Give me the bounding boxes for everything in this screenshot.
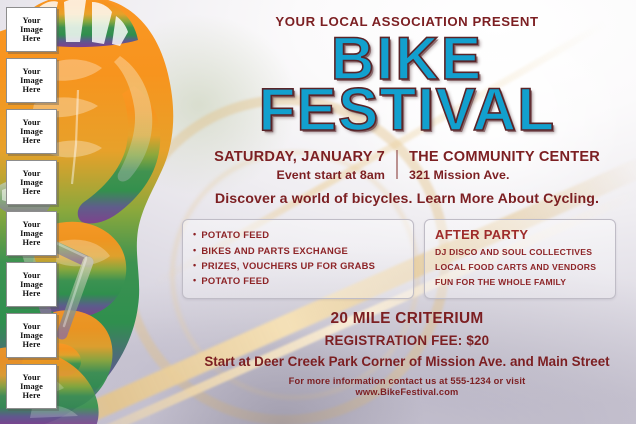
placeholder-line-1: Your [22,271,40,280]
placeholder-line-1: Your [22,373,40,382]
image-placeholder[interactable]: Your Image Here [6,313,57,358]
after-party-heading: AFTER PARTY [435,227,605,242]
placeholder-line-1: Your [22,16,40,25]
placeholder-line-3: Here [23,289,41,298]
poster-canvas: Your Image Here Your Image Here Your Ima… [0,0,636,424]
image-placeholder[interactable]: Your Image Here [6,211,57,256]
event-date: SATURDAY, JANUARY 7 [211,149,385,165]
highlight-item: • BIKES AND PARTS EXCHANGE [193,243,403,258]
bullet-dot-icon: • [193,227,196,242]
placeholder-line-2: Image [20,229,43,238]
placeholder-line-3: Here [23,34,41,43]
image-placeholder[interactable]: Your Image Here [6,364,57,409]
placeholder-line-2: Image [20,25,43,34]
image-placeholder[interactable]: Your Image Here [6,262,57,307]
placeholder-line-3: Here [23,238,41,247]
image-placeholder[interactable]: Your Image Here [6,109,57,154]
after-party-item: DJ DISCO AND SOUL COLLECTIVES [435,245,605,260]
event-tagline: Discover a world of bicycles. Learn More… [178,191,636,207]
placeholder-line-2: Image [20,178,43,187]
placeholder-line-2: Image [20,382,43,391]
after-party-panel: AFTER PARTY DJ DISCO AND SOUL COLLECTIVE… [424,219,616,298]
placeholder-line-2: Image [20,280,43,289]
placeholder-line-1: Your [22,322,40,331]
highlight-label: PRIZES, VOUCHERS UP FOR GRABS [201,258,375,273]
image-placeholder[interactable]: Your Image Here [6,160,57,205]
info-divider [396,150,398,179]
bullet-dot-icon: • [193,243,196,258]
highlight-label: BIKES AND PARTS EXCHANGE [201,243,348,258]
highlight-item: • POTATO FEED [193,273,403,288]
event-date-column: SATURDAY, JANUARY 7 Event start at 8am [200,149,396,182]
poster-content: YOUR LOCAL ASSOCIATION PRESENT BIKE FEST… [178,0,636,424]
placeholder-line-1: Your [22,118,40,127]
poster-footer: 20 MILE CRITERIUM REGISTRATION FEE: $20 … [178,310,636,397]
image-placeholder[interactable]: Your Image Here [6,7,57,52]
placeholder-line-3: Here [23,136,41,145]
criterium-title: 20 MILE CRITERIUM [178,310,636,328]
poster-title: BIKE FESTIVAL [178,31,636,137]
image-placeholder-strip: Your Image Here Your Image Here Your Ima… [0,0,64,424]
after-party-item: FUN FOR THE WHOLE FAMILY [435,275,605,290]
event-start-time: Event start at 8am [211,168,385,182]
event-info-row: SATURDAY, JANUARY 7 Event start at 8am T… [178,149,636,182]
placeholder-line-1: Your [22,67,40,76]
placeholder-line-2: Image [20,127,43,136]
venue-address: 321 Mission Ave. [409,168,603,182]
contact-line: For more information contact us at 555-1… [178,376,636,386]
website-line[interactable]: www.BikeFestival.com [178,387,636,397]
bullet-dot-icon: • [193,273,196,288]
highlight-label: POTATO FEED [201,227,269,242]
registration-fee: REGISTRATION FEE: $20 [178,333,636,348]
placeholder-line-3: Here [23,85,41,94]
info-panels: • POTATO FEED • BIKES AND PARTS EXCHANGE… [178,219,636,298]
venue-name: THE COMMUNITY CENTER [409,149,603,165]
bullet-dot-icon: • [193,258,196,273]
placeholder-line-2: Image [20,331,43,340]
after-party-item: LOCAL FOOD CARTS AND VENDORS [435,260,605,275]
placeholder-line-1: Your [22,169,40,178]
start-location: Start at Deer Creek Park Corner of Missi… [178,354,636,369]
highlight-item: • PRIZES, VOUCHERS UP FOR GRABS [193,258,403,273]
placeholder-line-3: Here [23,187,41,196]
placeholder-line-3: Here [23,391,41,400]
highlights-panel: • POTATO FEED • BIKES AND PARTS EXCHANGE… [182,219,414,298]
placeholder-line-2: Image [20,76,43,85]
placeholder-line-3: Here [23,340,41,349]
event-venue-column: THE COMMUNITY CENTER 321 Mission Ave. [398,149,614,182]
title-line-festival: FESTIVAL [178,82,636,137]
placeholder-line-1: Your [22,220,40,229]
highlight-label: POTATO FEED [201,273,269,288]
image-placeholder[interactable]: Your Image Here [6,58,57,103]
highlight-item: • POTATO FEED [193,227,403,242]
